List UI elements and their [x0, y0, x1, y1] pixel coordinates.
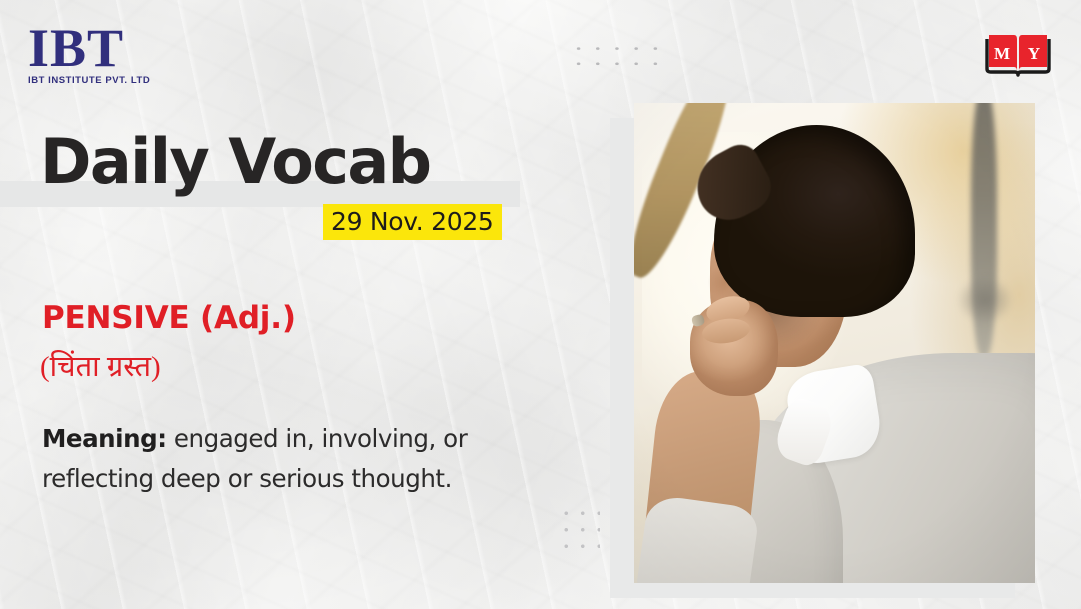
- dot-grid-top-decoration: [567, 39, 671, 77]
- pensive-man-photo: [634, 103, 1035, 583]
- poster-canvas: IBT IBT INSTITUTE PVT. LTD M Y Daily Voc…: [0, 0, 1081, 609]
- photo-vignette: [634, 103, 1035, 583]
- date-badge: 29 Nov. 2025: [323, 204, 502, 240]
- ibt-logo-subtitle: IBT INSTITUTE PVT. LTD: [28, 75, 198, 86]
- vocab-word: PENSIVE (Adj.): [42, 300, 296, 336]
- open-book-icon: M Y: [985, 29, 1051, 77]
- ibt-logo: IBT IBT INSTITUTE PVT. LTD: [28, 24, 198, 86]
- page-title: Daily Vocab: [40, 128, 430, 196]
- vocab-meaning: Meaning: engaged in, involving, or refle…: [42, 419, 547, 498]
- my-book-logo: M Y: [985, 29, 1051, 77]
- meaning-label: Meaning:: [42, 424, 167, 453]
- vocab-translation-hindi: (चिंता ग्रस्त): [40, 346, 161, 385]
- ibt-logo-mark: IBT: [28, 24, 198, 74]
- dot-grid-bottom-decoration: [556, 503, 600, 561]
- svg-text:M: M: [994, 44, 1010, 63]
- svg-text:Y: Y: [1028, 44, 1040, 63]
